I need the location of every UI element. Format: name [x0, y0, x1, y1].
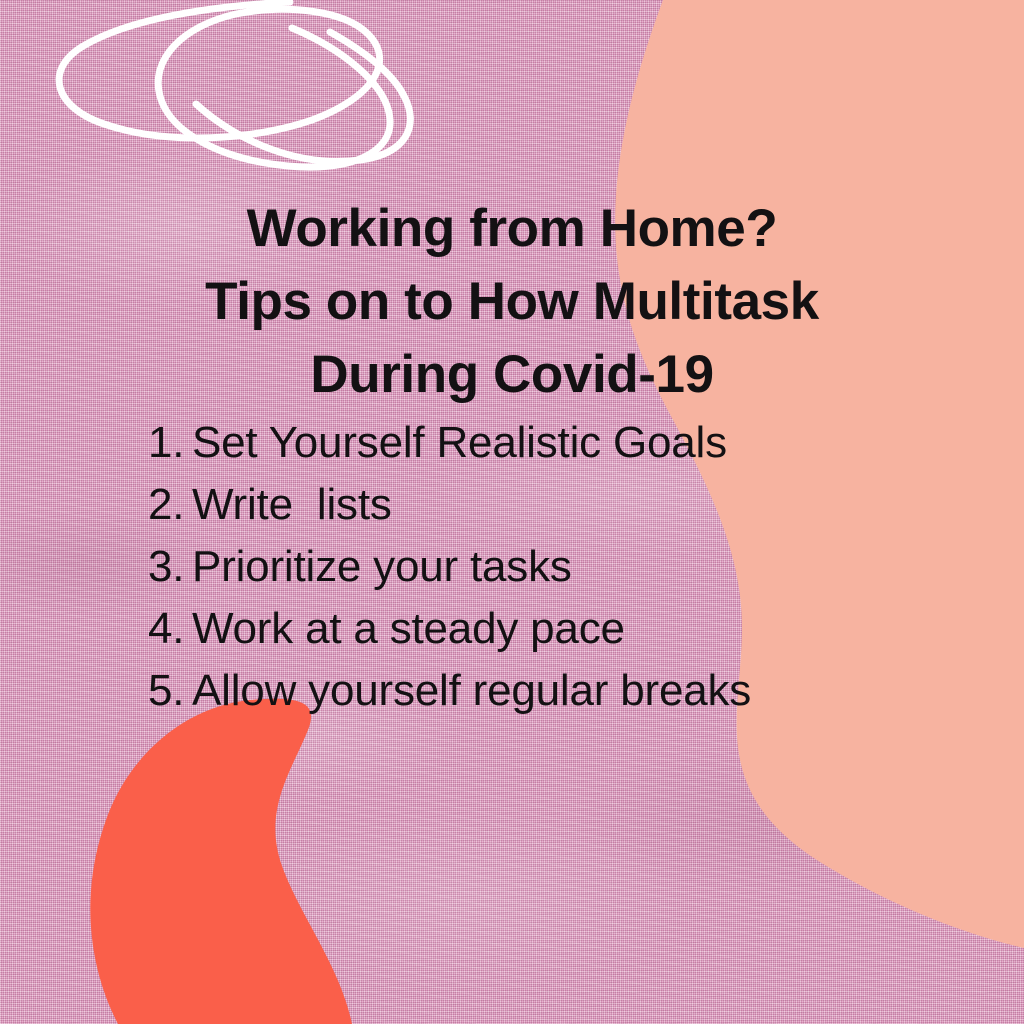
- list-item-label: Prioritize your tasks: [192, 536, 572, 598]
- list-item: 2. Write lists: [148, 474, 908, 536]
- list-item: 1. Set Yourself Realistic Goals: [148, 412, 908, 474]
- list-item-label: Allow yourself regular breaks: [192, 660, 751, 722]
- list-item-number: 5.: [148, 660, 192, 722]
- text-content-layer: Working from Home? Tips on to How Multit…: [0, 0, 1024, 1024]
- headline-line-1: Working from Home?: [0, 192, 1024, 265]
- list-item: 4. Work at a steady pace: [148, 598, 908, 660]
- list-item-number: 1.: [148, 412, 192, 474]
- tips-list: 1. Set Yourself Realistic Goals 2. Write…: [148, 412, 908, 722]
- list-item-number: 3.: [148, 536, 192, 598]
- list-item-label: Work at a steady pace: [192, 598, 625, 660]
- page-title: Working from Home? Tips on to How Multit…: [0, 192, 1024, 411]
- headline-line-2: Tips on to How Multitask: [0, 265, 1024, 338]
- list-item-number: 2.: [148, 474, 192, 536]
- list-item-label: Set Yourself Realistic Goals: [192, 412, 727, 474]
- poster-canvas: Working from Home? Tips on to How Multit…: [0, 0, 1024, 1024]
- list-item-number: 4.: [148, 598, 192, 660]
- list-item: 3. Prioritize your tasks: [148, 536, 908, 598]
- list-item-label: Write lists: [192, 474, 392, 536]
- list-item: 5. Allow yourself regular breaks: [148, 660, 908, 722]
- headline-line-3: During Covid-19: [0, 338, 1024, 411]
